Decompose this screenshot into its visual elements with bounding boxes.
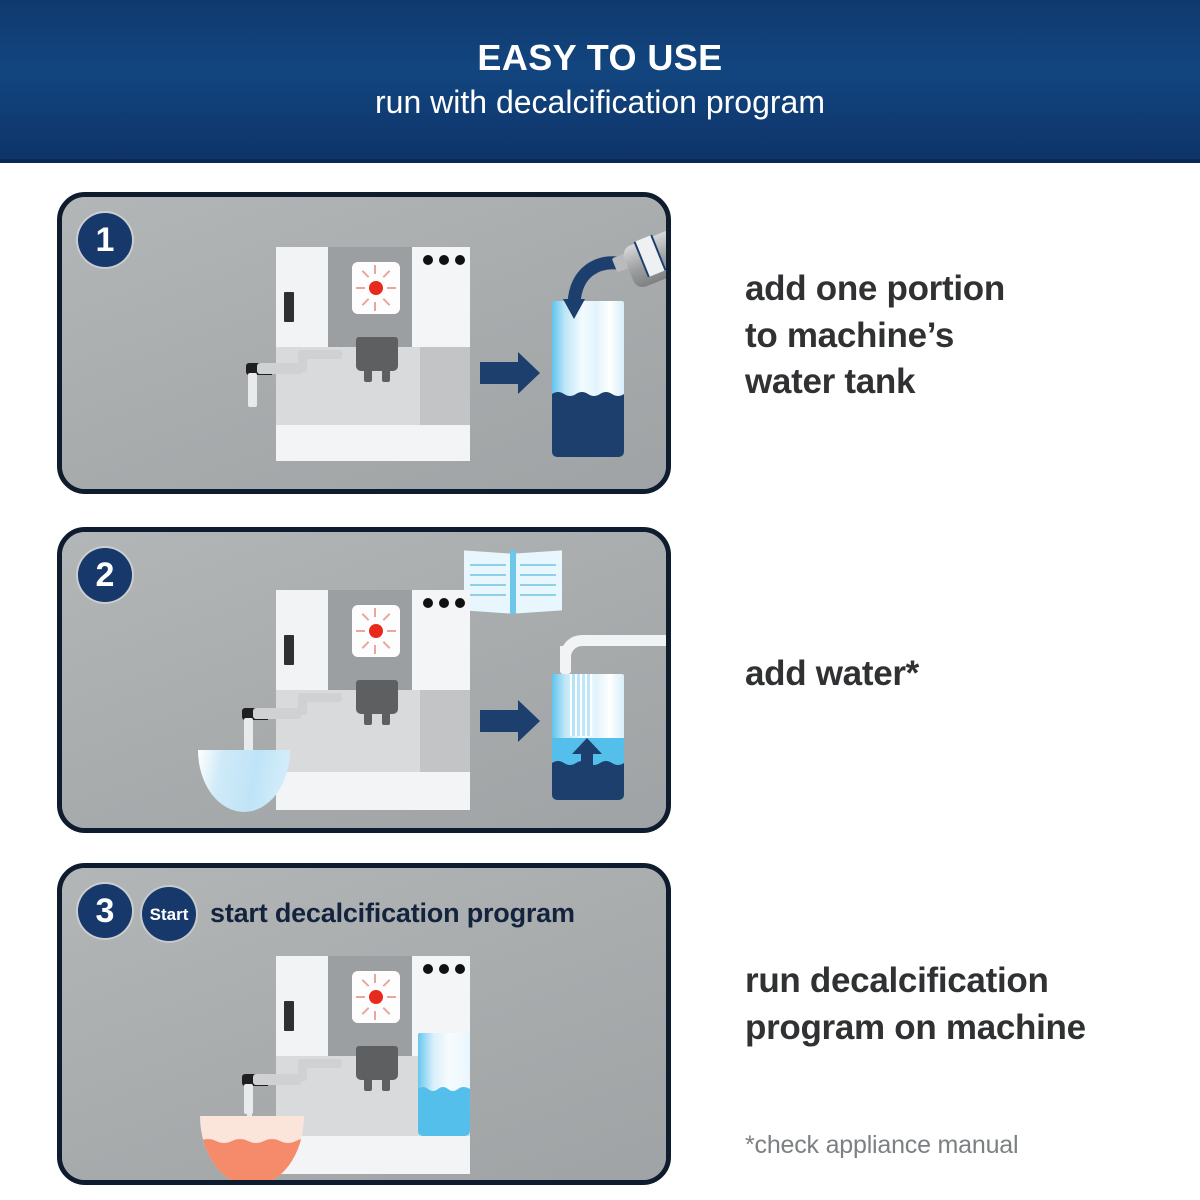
- step-3-line-1: run decalcification: [745, 958, 1086, 1005]
- step-1-line-1: add one portion: [745, 266, 1005, 313]
- step-2-line-1: add water*: [745, 651, 919, 698]
- content-area: 1: [0, 163, 1200, 1200]
- step-3-description: run decalcification program on machine: [745, 958, 1086, 1051]
- page-title: EASY TO USE: [477, 38, 722, 78]
- red-indicator-light-icon: [369, 990, 383, 1004]
- integrated-water-tank-icon: [418, 1033, 470, 1136]
- step-panel-2: 2: [57, 527, 671, 833]
- step-1-line-2: to machine’s: [745, 313, 1005, 360]
- step-panel-3-inner: 3 Start start decalcification program: [62, 868, 666, 1180]
- red-indicator-light-icon: [369, 624, 383, 638]
- header-banner: EASY TO USE run with decalcification pro…: [0, 0, 1200, 163]
- step-panel-1-inner: 1: [62, 197, 666, 489]
- step-3-caption: start decalcification program: [210, 898, 575, 929]
- step-1-description: add one portion to machine’s water tank: [745, 266, 1005, 406]
- footnote-text: *check appliance manual: [745, 1131, 1018, 1160]
- step-panel-2-inner: 2: [62, 532, 666, 828]
- water-wave: [418, 1085, 470, 1093]
- red-indicator-light-icon: [369, 281, 383, 295]
- step-3-line-2: program on machine: [745, 1005, 1086, 1052]
- step-2-description: add water*: [745, 651, 919, 698]
- page-subtitle: run with decalcification program: [375, 84, 825, 121]
- step-3-badge: 3: [78, 884, 132, 938]
- step-1-line-3: water tank: [745, 359, 1005, 406]
- water-tank-icon: [552, 674, 624, 800]
- liquid-wave: [200, 1137, 304, 1145]
- start-button-icon[interactable]: Start: [142, 887, 196, 941]
- step-panel-3: 3 Start start decalcification program: [57, 863, 671, 1185]
- step-2-badge: 2: [78, 548, 132, 602]
- up-arrow-icon: [572, 738, 602, 782]
- step-panel-1: 1: [57, 192, 671, 494]
- step-1-badge: 1: [78, 213, 132, 267]
- descaling-bowl-icon: [200, 1116, 304, 1180]
- water-wave: [552, 390, 624, 398]
